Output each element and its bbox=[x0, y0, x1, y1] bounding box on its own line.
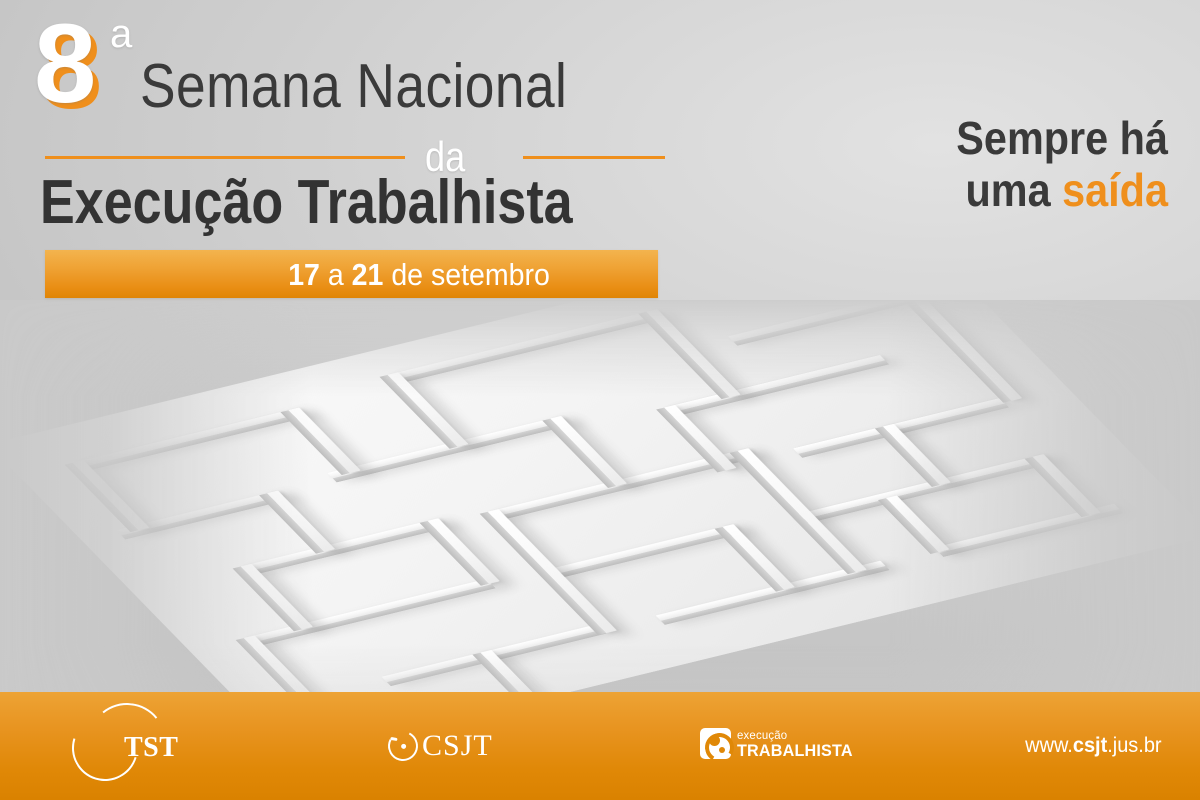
maze-floor bbox=[0, 300, 1200, 700]
execucao-badge-pip bbox=[719, 747, 725, 753]
title-line-2: Execução Trabalhista bbox=[40, 172, 573, 234]
url-suffix: .jus.br bbox=[1108, 734, 1162, 757]
csjt-emblem-dot bbox=[400, 743, 406, 749]
maze-stage bbox=[0, 300, 1200, 700]
edition-number: 8 bbox=[34, 8, 94, 120]
edition-ordinal-suffix: a bbox=[110, 14, 132, 54]
url-domain: csjt bbox=[1073, 734, 1107, 757]
edition-ordinal: 8 8 a bbox=[28, 8, 148, 128]
tagline-line-1: Sempre há bbox=[781, 112, 1168, 164]
footer-website-url[interactable]: www.csjt.jus.br bbox=[1026, 734, 1162, 758]
date-month: de setembro bbox=[391, 257, 550, 292]
date-day-from: 17 bbox=[288, 257, 320, 292]
execucao-logo-line-2: TRABALHISTA bbox=[737, 742, 853, 759]
tagline-block: Sempre há uma saída bbox=[738, 112, 1168, 216]
footer-bar: TST CSJT execução TRABALHISTA www.csjt.j… bbox=[0, 692, 1200, 800]
execucao-logo-line-1: execução bbox=[737, 729, 853, 741]
tagline-line-2: uma saída bbox=[781, 164, 1168, 216]
date-separator: a bbox=[327, 257, 343, 292]
maze-illustration bbox=[0, 300, 1200, 700]
title-line-1: Semana Nacional bbox=[140, 56, 567, 118]
csjt-logo[interactable]: CSJT bbox=[388, 729, 558, 763]
execucao-badge-blob bbox=[709, 735, 720, 746]
url-prefix: www. bbox=[1026, 734, 1074, 757]
date-day-to: 21 bbox=[351, 257, 383, 292]
tst-logo-label: TST bbox=[124, 734, 178, 762]
divider-rule-left bbox=[45, 156, 405, 159]
execucao-trabalhista-logo[interactable]: execução TRABALHISTA bbox=[700, 728, 859, 759]
divider-rule-right bbox=[523, 156, 665, 159]
tagline-line-2-plain: uma bbox=[965, 164, 1062, 216]
date-banner: 17 a 21 de setembro bbox=[45, 250, 658, 298]
poster-canvas: 8 8 a Semana Nacional da Execução Trabal… bbox=[0, 0, 1200, 800]
execucao-badge-icon bbox=[700, 728, 731, 759]
headline-block: 8 8 a Semana Nacional da Execução Trabal… bbox=[0, 0, 720, 320]
csjt-circle-emblem-icon bbox=[384, 727, 422, 765]
tst-logo[interactable]: TST bbox=[72, 713, 200, 779]
csjt-emblem-tick bbox=[390, 737, 397, 741]
tagline-accent-word: saída bbox=[1062, 164, 1168, 216]
execucao-logo-words: execução TRABALHISTA bbox=[737, 729, 859, 759]
csjt-logo-label: CSJT bbox=[422, 731, 493, 761]
date-banner-text: 17 a 21 de setembro bbox=[288, 259, 658, 290]
